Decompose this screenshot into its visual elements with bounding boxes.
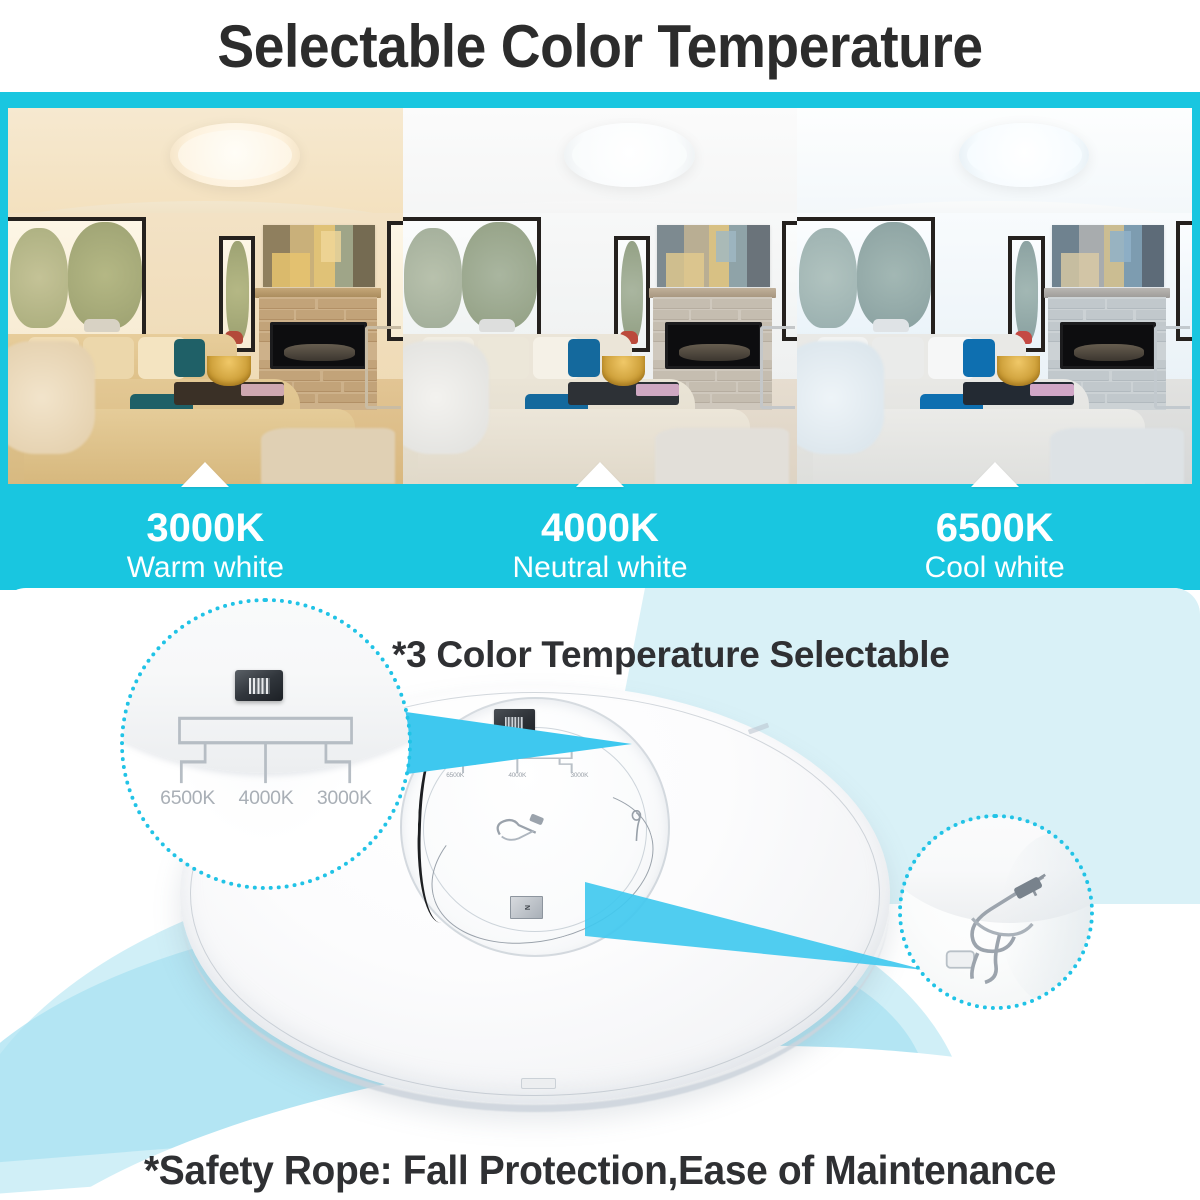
area-rug (1050, 428, 1184, 484)
color-temperature-comparison-panel: 3000K Warm white 4000K Neutral white 650… (0, 92, 1200, 590)
window-left (8, 217, 146, 341)
bottom-caption: *Safety Rope: Fall Protection,Ease of Ma… (30, 1147, 1170, 1194)
decor-bowl (207, 356, 250, 386)
room-photo-4000k (403, 108, 798, 484)
cct-dip-switch-magnifier: 6500K 4000K 3000K (120, 598, 412, 890)
window-right (1176, 221, 1192, 341)
infographic-page: Selectable Color Temperature (0, 0, 1200, 1200)
window-right (387, 221, 403, 341)
dotted-circle-border (120, 598, 412, 890)
books (241, 384, 284, 395)
up-triangle-icon (971, 462, 1019, 487)
window-left (797, 217, 935, 341)
wire-tag: N (510, 896, 543, 919)
ceiling-lamp-icon (959, 123, 1089, 187)
product-detail-panel: *3 Color Temperature Selectable (0, 588, 1200, 1200)
page-title: Selectable Color Temperature (48, 4, 1152, 90)
fireplace-firebox (1060, 322, 1157, 369)
wall-artwork (657, 225, 769, 287)
books (1030, 384, 1073, 395)
ceiling-lamp-icon (170, 123, 300, 187)
ct-kelvin-value: 4000K (403, 506, 798, 550)
fur-throw (8, 341, 95, 454)
up-triangle-icon (576, 462, 624, 487)
dotted-circle-border (898, 814, 1094, 1010)
safety-rope-clip-icon (478, 810, 563, 848)
window-right (782, 221, 798, 341)
decor-bowl (997, 356, 1040, 386)
ct-name-label: Neutral white (403, 550, 798, 586)
pointer-wedge-rope (585, 878, 925, 1008)
fireplace-firebox (665, 322, 762, 369)
area-rug (261, 428, 395, 484)
room-photo-strip (8, 108, 1192, 484)
up-triangle-icon (181, 462, 229, 487)
wall-artwork (263, 225, 375, 287)
ct-label-6500k: 6500K Cool white (797, 484, 1192, 584)
wall-artwork (1052, 225, 1164, 287)
room-photo-3000k (8, 108, 403, 484)
ct-kelvin-value: 6500K (797, 506, 1192, 550)
ct-label-3000k: 3000K Warm white (8, 484, 403, 584)
side-chair (365, 326, 401, 409)
ct-label-4000k: 4000K Neutral white (403, 484, 798, 584)
window-left (403, 217, 541, 341)
fireplace-firebox (270, 322, 367, 369)
disc-mount-notch (521, 1078, 557, 1089)
ct-name-label: Warm white (8, 550, 403, 586)
ceiling-lamp-icon (564, 123, 694, 187)
ct-kelvin-value: 3000K (8, 506, 403, 550)
detail-headline: *3 Color Temperature Selectable (392, 634, 950, 676)
room-photo-6500k (797, 108, 1192, 484)
pointer-wedge-cct (392, 698, 632, 788)
fur-throw (797, 341, 884, 454)
side-chair (760, 326, 796, 409)
fur-throw (403, 341, 490, 454)
safety-rope-anchor-icon (624, 810, 649, 844)
area-rug (655, 428, 789, 484)
color-temperature-labels: 3000K Warm white 4000K Neutral white 650… (8, 484, 1192, 584)
side-chair (1154, 326, 1190, 409)
wire-tag-label: N (516, 892, 537, 923)
safety-rope-magnifier (898, 814, 1094, 1010)
decor-bowl (602, 356, 645, 386)
books (636, 384, 679, 395)
ct-name-label: Cool white (797, 550, 1192, 586)
